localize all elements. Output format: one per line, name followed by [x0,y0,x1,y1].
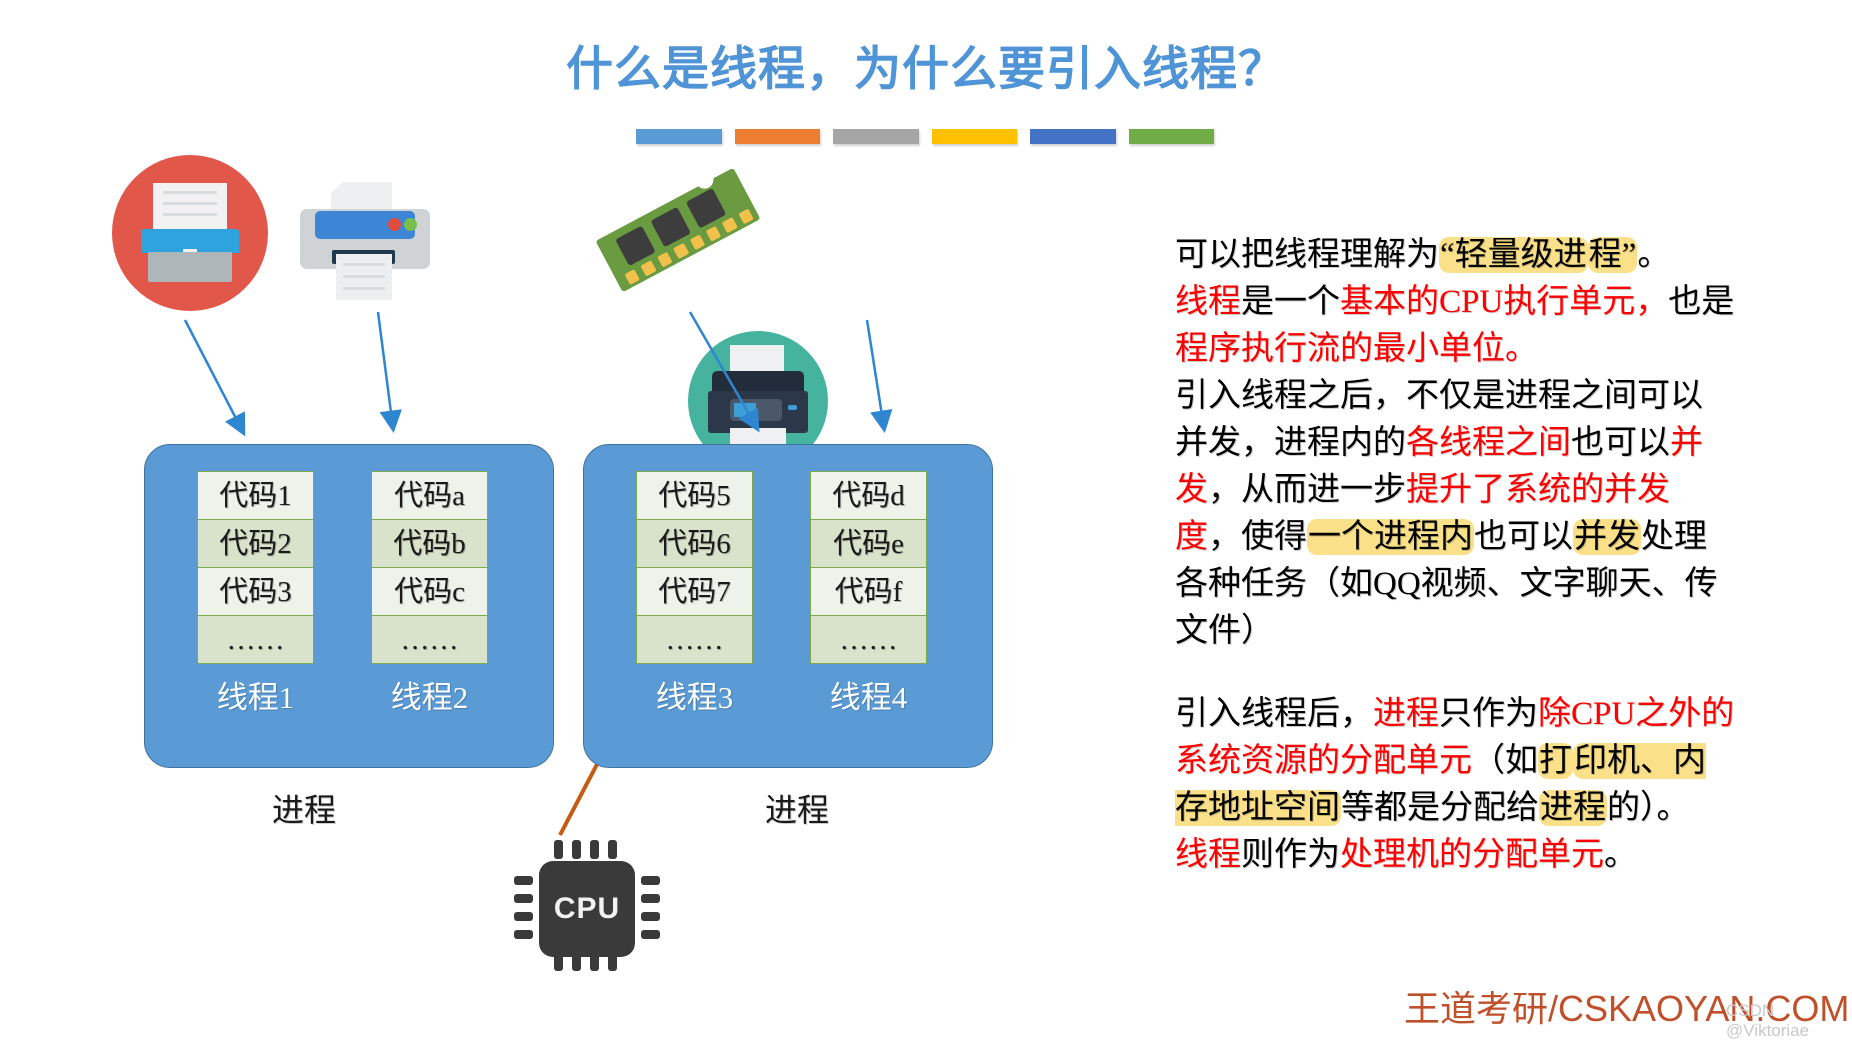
text-run: 引入线程之后，不仅是进程之间 [1175,378,1637,414]
text-run: 则作为 [1241,837,1340,873]
colorbar-segment-1 [636,129,722,144]
text-run-red: 除CPU之 [1538,696,1668,732]
code-cell: 代码d [810,471,927,520]
text-run-red: 线程 [1175,284,1241,320]
code-cell: 代码5 [636,471,753,520]
cpu-chip-icon: CPU [512,838,662,973]
code-cell: 代码7 [636,567,753,616]
process-label-2: 进程 [765,785,829,831]
arrow-printer-teal-to-process2 [867,320,884,428]
paragraph-2: 线程是一个基本的CPU执行单元，也是程序执行流的最小单位。 [1175,279,1735,373]
highlight-run: “轻量级进 [1439,237,1588,273]
slide-root: 什么是线程，为什么要引入线程？ [0,0,1852,1036]
text-run-red: 线程 [1175,837,1241,873]
highlight-run: 进程 [1539,790,1607,826]
text-run-red: 提升了 [1406,472,1505,508]
text-run: 的）。 [1607,790,1690,826]
arrow-printer-gray-to-process1 [378,312,393,428]
code-cell: 代码a [371,471,488,520]
code-cell: 代码e [810,519,927,568]
code-cell: 代码c [371,567,488,616]
thread-3: 代码5 代码6 代码7 …… 线程3 [636,471,753,717]
text-run: 也是 [1668,284,1734,320]
code-cell: 代码3 [197,567,314,616]
code-cell: 代码6 [636,519,753,568]
text-run: 等都是分配 [1341,790,1506,826]
thread-2: 代码a 代码b 代码c …… 线程2 [371,471,488,717]
colorbar-segment-4 [932,129,1018,144]
text-run: 可以把线程理解为 [1175,237,1439,273]
colorbar-segment-2 [735,129,821,144]
printer-red-circle-icon [112,155,268,311]
thread-label: 线程4 [810,672,927,717]
thread-4: 代码d 代码e 代码f …… 线程4 [810,471,927,717]
code-cell: …… [636,615,753,664]
highlight-run: 程” [1588,237,1638,273]
text-run: ，使得 [1208,519,1307,555]
ram-memory-icon [598,165,758,305]
code-cell: …… [371,615,488,664]
text-run: （如 [1472,743,1538,779]
csdn-watermark: CSDN @Viktoriae [1726,1001,1852,1041]
text-run-red: 进程 [1373,696,1439,732]
text-run: 。 [1604,837,1637,873]
page-title: 什么是线程，为什么要引入线程？ [0,30,1852,99]
cpu-label: CPU [539,861,635,957]
text-run-red: 各线程之间 [1406,425,1571,461]
text-run-red: 程序执行流的最小单位。 [1175,331,1538,367]
text-run: 。 [1637,237,1670,273]
explanation-text-panel: 可以把线程理解为“轻量级进程”。 线程是一个基本的CPU执行单元，也是程序执行流… [1175,232,1735,879]
title-colorbar [636,129,1214,144]
highlight-run: 一个进程内 [1307,519,1474,555]
highlight-run: 并发 [1573,519,1641,555]
process-box-1: 代码1 代码2 代码3 …… 线程1 代码a 代码b 代码c …… 线程2 [144,444,554,768]
code-cell: …… [197,615,314,664]
code-cell: 代码b [371,519,488,568]
thread-label: 线程1 [197,672,314,717]
process-label-1: 进程 [272,785,336,831]
text-run: 是一个 [1241,284,1340,320]
paragraph-3: 引入线程之后，不仅是进程之间可以并发，进程内的各线程之间也可以并发，从而进一步提… [1175,373,1735,655]
text-run-red: 处理机的分配单元 [1340,837,1604,873]
printer-gray-icon [300,182,430,300]
text-run-red: 基本的CPU执行单元， [1340,284,1668,320]
text-run: 只作为 [1439,696,1538,732]
colorbar-segment-3 [833,129,919,144]
text-run: 引入线程后， [1175,696,1373,732]
text-run: ，从而进一步 [1208,472,1406,508]
highlight-run: 打 [1538,743,1573,779]
thread-1: 代码1 代码2 代码3 …… 线程1 [197,471,314,717]
colorbar-segment-5 [1030,129,1116,144]
paragraph-5: 线程则作为处理机的分配单元。 [1175,832,1735,879]
arrow-printer-red-to-process1 [185,320,243,432]
paragraph-1: 可以把线程理解为“轻量级进程”。 [1175,232,1735,279]
process-box-2: 代码5 代码6 代码7 …… 线程3 代码d 代码e 代码f …… 线程4 [583,444,993,768]
text-run: 给 [1506,790,1539,826]
paragraph-spacer [1175,655,1735,691]
thread-label: 线程2 [371,672,488,717]
code-cell: 代码f [810,567,927,616]
text-run: 也可以 [1474,519,1573,555]
code-cell: 代码1 [197,471,314,520]
text-run: 也可以 [1571,425,1670,461]
colorbar-segment-6 [1129,129,1215,144]
code-cell: …… [810,615,927,664]
code-cell: 代码2 [197,519,314,568]
thread-label: 线程3 [636,672,753,717]
paragraph-4: 引入线程后，进程只作为除CPU之外的系统资源的分配单元（如打印机、内存地址空间等… [1175,691,1735,832]
